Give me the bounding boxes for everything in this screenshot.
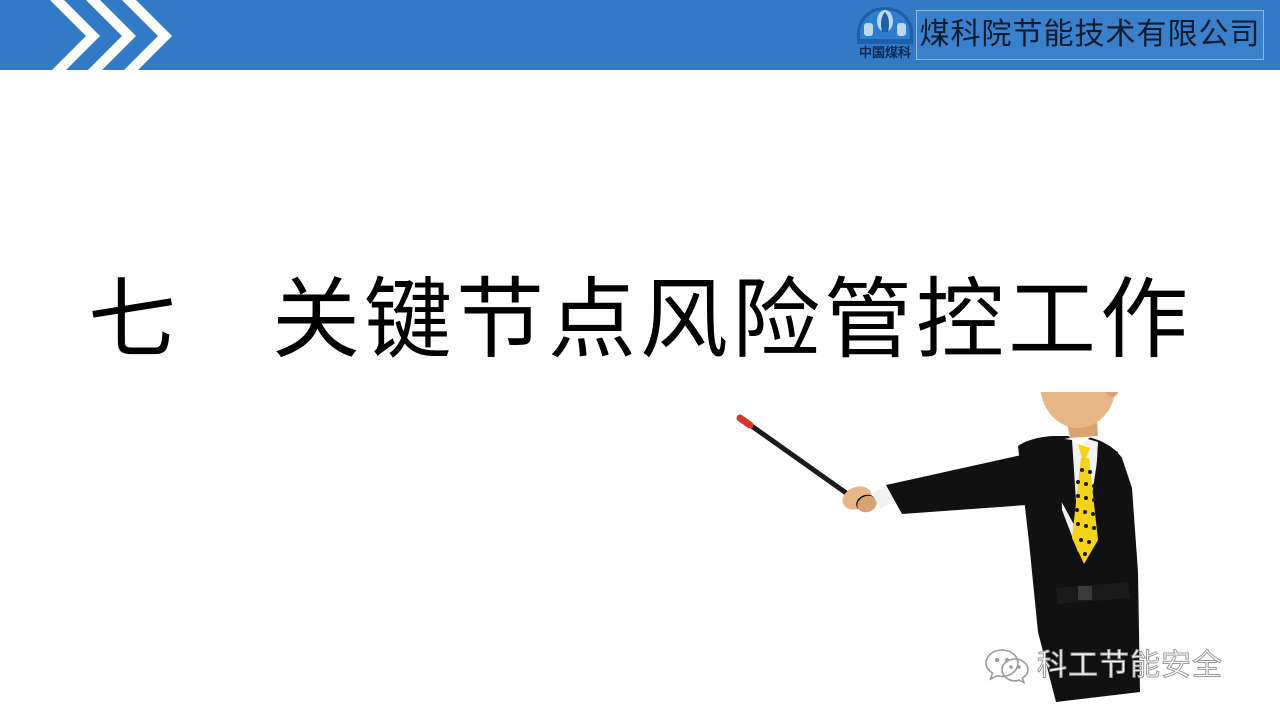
pointer-stick-icon [740, 418, 849, 495]
slide-title-text: 七 关键节点风险管控工作 [88, 268, 1192, 372]
watermark-text: 科工节能安全 [1037, 649, 1223, 683]
page-title: 七 关键节点风险管控工作 [0, 268, 1280, 372]
head-shape [1040, 392, 1119, 428]
wechat-icon [985, 647, 1029, 685]
watermark: 科工节能安全 [985, 642, 1223, 690]
slide-canvas: 中国煤科 煤科院节能技术有限公司 七 关键节点风险管控工作 [0, 0, 1280, 720]
hand-shape [839, 482, 879, 515]
double-chevron-right-icon [44, 0, 174, 70]
china-coal-emblem-icon [854, 6, 916, 46]
header-bar: 中国煤科 煤科院节能技术有限公司 [0, 0, 1280, 70]
company-name-box: 煤科院节能技术有限公司 [916, 10, 1264, 60]
company-name-label: 煤科院节能技术有限公司 [920, 18, 1261, 52]
